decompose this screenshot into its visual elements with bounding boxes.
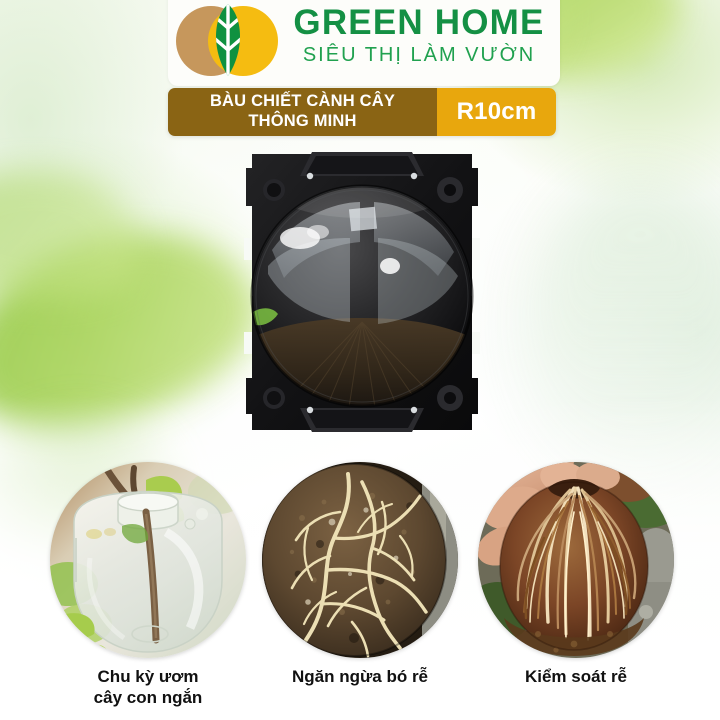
feature-photo-root-ball-soil [262,462,458,658]
feature-item: Ngăn ngừa bó rễ [262,462,458,687]
feature-caption: Chu kỳ ươm cây con ngắn [50,666,246,709]
product-advertisement-image: GREEN HOME SIÊU THỊ LÀM VƯỜN BÀU CHIẾT C… [0,0,720,720]
brand-logo-card: GREEN HOME SIÊU THỊ LÀM VƯỜN [168,0,560,86]
feature-photo-propagation-ball [50,462,246,658]
product-title-text-block: BÀU CHIẾT CÀNH CÂY THÔNG MINH [168,88,437,136]
feature-row: Chu kỳ ươm cây con ngắn [0,462,720,720]
feature-caption: Kiểm soát rễ [478,666,674,687]
feature-item: Chu kỳ ươm cây con ngắn [50,462,246,709]
brand-name: GREEN HOME [284,5,554,40]
brand-logo-mark [174,0,282,80]
feature-caption: Ngăn ngừa bó rễ [262,666,458,687]
brand-text-block: GREEN HOME SIÊU THỊ LÀM VƯỜN [282,5,560,70]
logo-leaf-icon [174,0,282,80]
product-illustration [238,146,486,438]
product-size-badge: R10cm [437,88,556,136]
main-product-photo [238,146,486,438]
product-title-line-1: BÀU CHIẾT CÀNH CÂY [210,92,395,111]
product-size-label: R10cm [457,98,537,126]
feature-photo-hand-holding-root-ball [478,462,674,658]
product-title-banner: BÀU CHIẾT CÀNH CÂY THÔNG MINH R10cm [168,88,556,136]
brand-tagline: SIÊU THỊ LÀM VƯỜN [284,40,554,70]
feature-item: Kiểm soát rễ [478,462,674,687]
product-title-line-2: THÔNG MINH [248,112,356,131]
